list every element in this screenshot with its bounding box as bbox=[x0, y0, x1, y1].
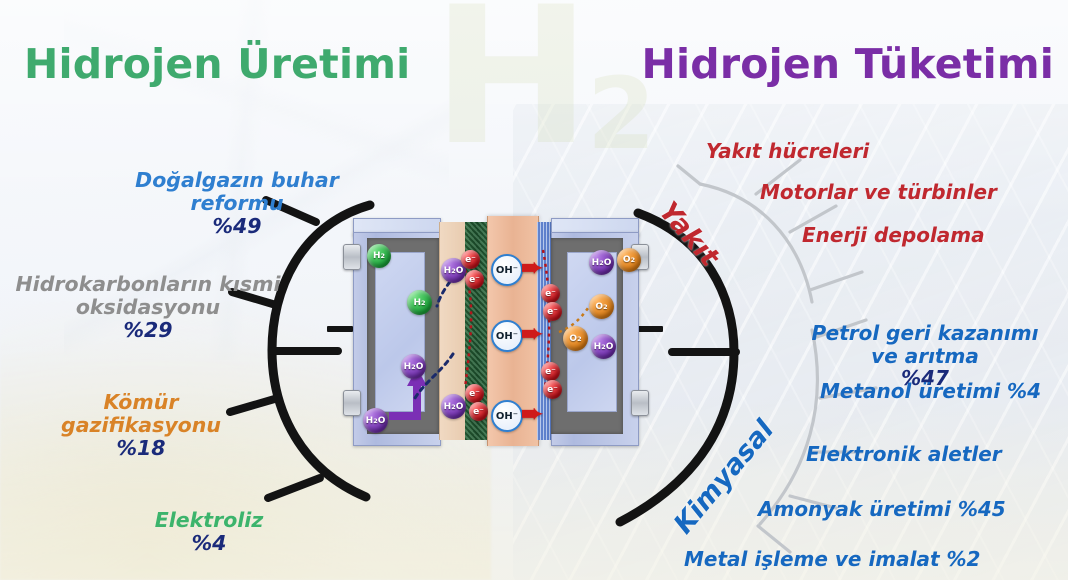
consumption-label-engines-turbines: Motorlar ve türbinler bbox=[760, 181, 997, 203]
production-percent-partial-oxidation: %29 bbox=[0, 319, 296, 342]
molecule-water-6: H2O bbox=[591, 334, 616, 359]
molecule-oxygen-3: O2 bbox=[617, 248, 641, 272]
molecule-electron-3: e⁻ bbox=[465, 384, 484, 403]
infographic-canvas: H2 Hidrojen Üretimi Hidrojen Tüketimi bbox=[0, 0, 1068, 580]
molecule-water-5: H2O bbox=[589, 250, 614, 275]
consumption-label-fuel-cells: Yakıt hücreleri bbox=[706, 140, 869, 162]
production-label-smr-text: Doğalgazın buhar reformu bbox=[135, 168, 339, 215]
consumption-label-ammonia-production: Amonyak üretimi %45 bbox=[758, 498, 1006, 520]
molecule-hydrogen-1: H2 bbox=[367, 244, 391, 268]
production-label-electrolysis: Elektroliz %4 bbox=[120, 486, 298, 578]
consumption-label-petroleum-text: Petrol geri kazanımı ve arıtma bbox=[812, 321, 1039, 367]
production-label-coal-gasification: Kömür gazifikasyonu %18 bbox=[24, 368, 258, 483]
molecule-oxygen-1: O2 bbox=[563, 326, 588, 351]
water-flow-arrow bbox=[393, 382, 417, 416]
production-percent-electrolysis: %4 bbox=[120, 532, 298, 555]
molecule-oxygen-2: O2 bbox=[589, 294, 614, 319]
consumption-label-energy-storage: Enerji depolama bbox=[802, 224, 985, 246]
production-label-partial-oxidation: Hidrokarbonların kısmi oksidasyonu %29 bbox=[0, 250, 296, 365]
production-label-partial-oxidation-text: Hidrokarbonların kısmi oksidasyonu bbox=[16, 272, 281, 319]
molecule-electron-7: e⁻ bbox=[541, 362, 560, 381]
molecule-electron-6: e⁻ bbox=[543, 302, 562, 321]
molecule-water-4: H2O bbox=[441, 394, 466, 419]
ion-transport-arrow-3: ➨ bbox=[521, 400, 543, 426]
production-label-coal-gasification-text: Kömür gazifikasyonu bbox=[61, 390, 221, 437]
consumption-label-methanol-production: Metanol üretimi %4 bbox=[820, 380, 1041, 402]
production-label-electrolysis-text: Elektroliz bbox=[155, 508, 264, 532]
molecule-hydroxide-1: OH⁻ bbox=[491, 254, 523, 286]
molecule-hydrogen-2: H2 bbox=[407, 290, 432, 315]
molecule-electron-1: e⁻ bbox=[461, 250, 480, 269]
molecule-electron-2: e⁻ bbox=[465, 270, 484, 289]
production-label-steam-methane-reforming: Doğalgazın buhar reformu %49 bbox=[110, 146, 364, 261]
molecule-water-2: H2O bbox=[363, 408, 388, 433]
molecule-electron-5: e⁻ bbox=[541, 284, 560, 303]
molecule-electron-8: e⁻ bbox=[543, 380, 562, 399]
consumption-label-metal-working: Metal işleme ve imalat %2 bbox=[684, 548, 980, 570]
electrolyzer-cell-diagram: H2 H2 H2O H2O H2O H2O e⁻ e⁻ e⁻ e⁻ OH⁻ ➨ … bbox=[345, 222, 645, 440]
production-percent-smr: %49 bbox=[110, 215, 364, 238]
consumption-label-electronic-devices: Elektronik aletler bbox=[806, 443, 1002, 465]
molecule-hydroxide-3: OH⁻ bbox=[491, 400, 523, 432]
molecule-water-1: H2O bbox=[401, 354, 426, 379]
production-percent-coal-gasification: %18 bbox=[24, 437, 258, 460]
molecule-electron-4: e⁻ bbox=[469, 402, 488, 421]
fuel-leader-4 bbox=[810, 272, 862, 290]
ion-transport-arrow-1: ➨ bbox=[521, 254, 543, 280]
fuel-leader-1 bbox=[678, 166, 700, 184]
molecule-hydroxide-2: OH⁻ bbox=[491, 320, 523, 352]
ion-transport-arrow-2: ➨ bbox=[521, 320, 543, 346]
